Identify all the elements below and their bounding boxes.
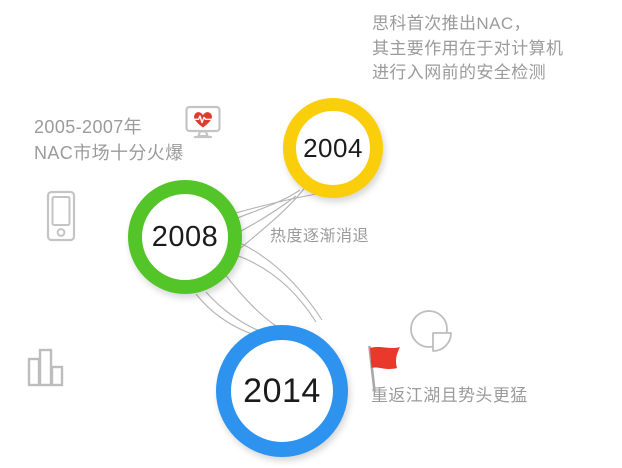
connector-2008-2004-d bbox=[232, 192, 330, 214]
milestone-year-2014: 2014 bbox=[243, 374, 321, 408]
red-flag-icon bbox=[362, 341, 406, 398]
milestone-ring-2014[interactable]: 2014 bbox=[216, 325, 348, 457]
connector-2008-2014 bbox=[226, 252, 316, 322]
milestone-note-2008: 热度逐渐消退 bbox=[270, 225, 369, 248]
timeline-side-note: 2005-2007年 NAC市场十分火爆 bbox=[34, 114, 184, 166]
monitor-heart-icon bbox=[183, 103, 223, 148]
milestone-year-2008: 2008 bbox=[152, 223, 219, 252]
milestone-ring-2004[interactable]: 2004 bbox=[283, 98, 383, 198]
milestone-note-2004: 思科首次推出NAC， 其主要作用在于对计算机 进行入网前的安全检测 bbox=[372, 12, 563, 86]
timeline-infographic: 2004 2008 2014 思科首次推出NAC， 其主要作用在于对计算机 进行… bbox=[0, 0, 622, 468]
pie-chart-icon bbox=[405, 305, 459, 364]
connector-2008-2014-d bbox=[206, 292, 262, 332]
milestone-ring-2008[interactable]: 2008 bbox=[128, 180, 242, 294]
connector-2008-2014-c bbox=[238, 242, 322, 320]
smartphone-icon bbox=[45, 190, 77, 247]
milestone-year-2004: 2004 bbox=[303, 135, 363, 161]
connector-2008-2014-e bbox=[196, 294, 252, 334]
bar-chart-icon bbox=[26, 347, 66, 394]
